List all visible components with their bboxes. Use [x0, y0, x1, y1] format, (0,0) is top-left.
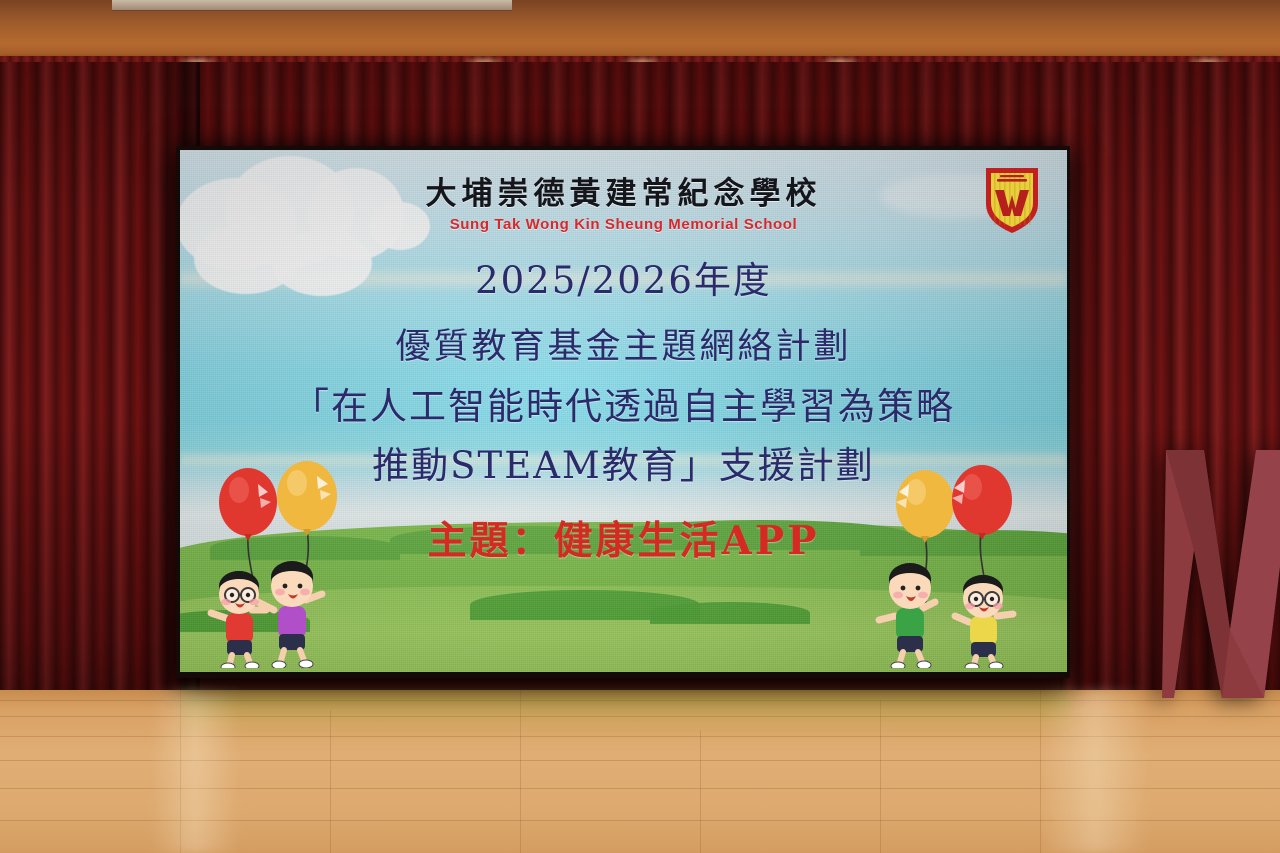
slide-line-quote-1: 「在人工智能時代透過自主學習為策略 — [180, 376, 1067, 430]
floor-light-beam — [150, 690, 240, 853]
screen-floor-reflection — [180, 690, 1070, 738]
letter-w-prop — [1160, 440, 1280, 708]
school-crest-icon — [983, 164, 1041, 236]
slide-line-theme: 主題：健康生活APP — [180, 510, 1067, 566]
ceiling-panel — [112, 0, 512, 11]
slide-line-quote-2: 推動STEAM教育」支援計劃 — [180, 435, 1067, 489]
presentation-slide: 大埔崇德黃建常紀念學校 Sung Tak Wong Kin Sheung Mem… — [180, 150, 1067, 672]
school-name-chinese: 大埔崇德黃建常紀念學校 — [180, 168, 1067, 213]
school-name-english: Sung Tak Wong Kin Sheung Memorial School — [180, 216, 1067, 233]
stage-hall: 大埔崇德黃建常紀念學校 Sung Tak Wong Kin Sheung Mem… — [0, 0, 1280, 853]
floor-light-beam — [1040, 690, 1150, 853]
led-screen: 大埔崇德黃建常紀念學校 Sung Tak Wong Kin Sheung Mem… — [176, 146, 1070, 678]
slide-line-year: 2025/2026年度 — [180, 250, 1067, 304]
slide-line-programme: 優質教育基金主題網絡計劃 — [180, 318, 1067, 369]
bush-shape — [650, 602, 810, 624]
slide-header: 大埔崇德黃建常紀念學校 Sung Tak Wong Kin Sheung Mem… — [180, 168, 1067, 233]
slide-title-block: 2025/2026年度 優質教育基金主題網絡計劃 「在人工智能時代透過自主學習為… — [180, 250, 1067, 489]
